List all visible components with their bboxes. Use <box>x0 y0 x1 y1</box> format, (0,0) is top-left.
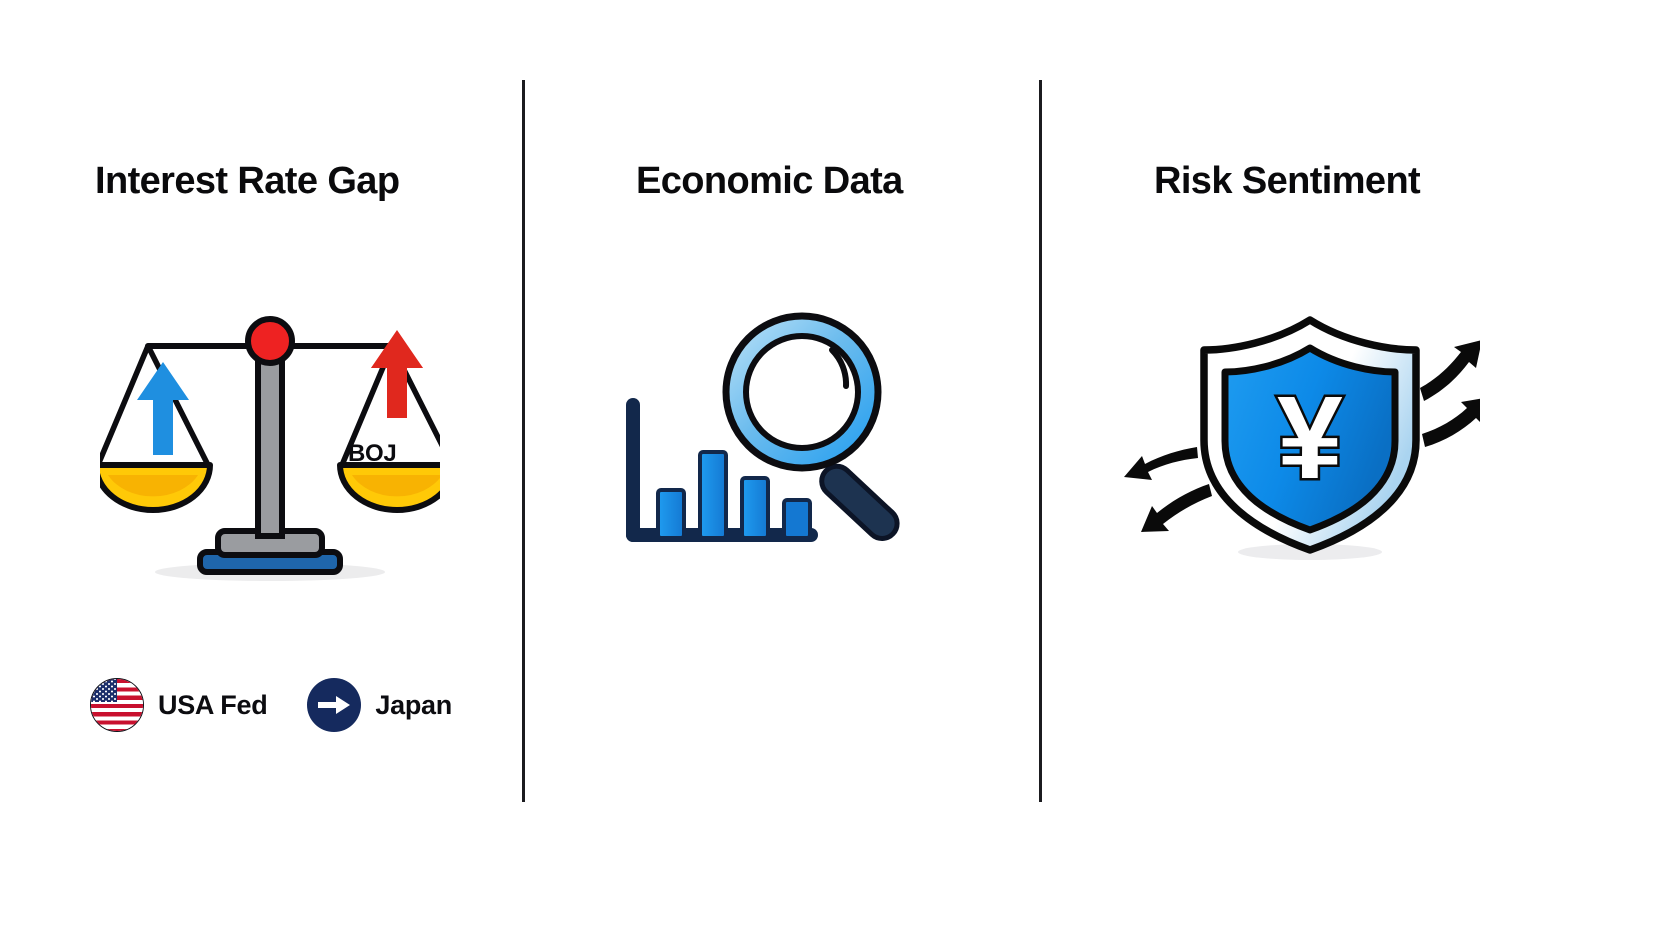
page-title-economic-data: Economic Data <box>636 160 903 203</box>
arrow-out-lower-right <box>1422 397 1480 447</box>
page-title-risk-sentiment: Risk Sentiment <box>1154 160 1420 203</box>
legend-item-japan[interactable]: Japan <box>307 678 452 732</box>
arrow-out-left <box>1124 447 1198 480</box>
infographic-canvas: Interest Rate Gap <box>0 0 1666 937</box>
panel-risk-sentiment: Risk Sentiment <box>1040 0 1666 937</box>
panel-economic-data: Economic Data <box>523 0 1040 937</box>
magnifier-lens-icon <box>726 316 878 468</box>
boj-label: BOJ <box>348 440 396 468</box>
yen-symbol: ¥ <box>1277 372 1343 504</box>
arrow-out-upper-right <box>1420 340 1480 401</box>
yen-shield-icon: ¥ <box>1120 300 1480 595</box>
japan-arrow-icon <box>307 678 361 732</box>
panel-interest-rate-gap: Interest Rate Gap <box>0 0 523 937</box>
legend-interest-rate-gap: USA Fed Japan <box>90 678 452 732</box>
magnifier-bar-chart-icon <box>618 300 938 585</box>
usa-flag-icon <box>90 678 144 732</box>
balance-scale-icon: BOJ <box>100 300 440 595</box>
magnifier-handle-icon <box>816 460 904 545</box>
legend-item-usa-fed[interactable]: USA Fed <box>90 678 267 732</box>
page-title-interest-rate-gap: Interest Rate Gap <box>95 160 399 203</box>
legend-label-usa-fed: USA Fed <box>158 690 267 721</box>
legend-label-japan: Japan <box>375 690 452 721</box>
arrow-out-lower-left <box>1141 484 1212 532</box>
